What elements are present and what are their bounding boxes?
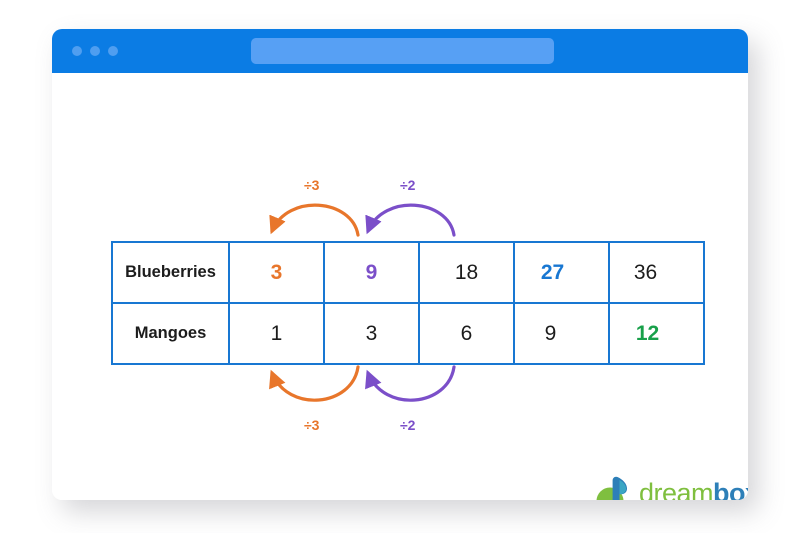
cell-mangoes-1: 1: [229, 303, 324, 364]
top-arrow-divide-2: [368, 205, 454, 235]
cell-value: 27: [541, 261, 564, 284]
bottom-arrow-divide-3: [272, 367, 358, 400]
cell-blueberries-5: 36: [609, 242, 704, 303]
dreambox-logo-mark-icon: [595, 474, 635, 500]
window-maximize-dot[interactable]: [108, 46, 118, 56]
cell-value: 36: [634, 261, 657, 284]
cell-value: 9: [366, 261, 378, 284]
cell-blueberries-4: 27: [514, 242, 609, 303]
cell-mangoes-5: 12: [609, 303, 704, 364]
browser-title-bar: [52, 29, 748, 73]
bottom-arrow-divide-2: [368, 367, 454, 400]
label-top-divide-3: ÷3: [304, 177, 319, 193]
window-controls[interactable]: [72, 46, 118, 56]
logo-word-box: box: [713, 478, 748, 500]
cell-mangoes-3: 6: [419, 303, 514, 364]
address-bar-input[interactable]: [251, 38, 554, 64]
cell-blueberries-2: 9: [324, 242, 419, 303]
cell-value: 1: [271, 322, 283, 345]
window-close-dot[interactable]: [72, 46, 82, 56]
cell-blueberries-3: 18: [419, 242, 514, 303]
table-row-mangoes: Mangoes 1 3 6 9 12: [112, 303, 704, 364]
dreambox-wordmark: dreambox®: [639, 478, 748, 500]
label-top-divide-2: ÷2: [400, 177, 415, 193]
window-minimize-dot[interactable]: [90, 46, 100, 56]
dreambox-logo: dreambox® By Discovery Education: [595, 472, 735, 500]
cell-mangoes-2: 3: [324, 303, 419, 364]
cell-value: 3: [366, 322, 378, 345]
browser-window: ÷3 ÷2 ÷3 ÷2 x3 ÷3 Blueberries 3 9 18: [52, 29, 748, 500]
top-arrow-divide-3: [272, 205, 358, 235]
cell-value: 6: [461, 322, 473, 345]
row-label-blueberries: Blueberries: [112, 242, 229, 303]
label-bottom-divide-3: ÷3: [304, 417, 319, 433]
logo-word-dream: dream: [639, 478, 713, 500]
cell-blueberries-1: 3: [229, 242, 324, 303]
cell-value: 18: [455, 261, 478, 284]
table-row-blueberries: Blueberries 3 9 18 27 36: [112, 242, 704, 303]
ratio-table-diagram: ÷3 ÷2 ÷3 ÷2 x3 ÷3 Blueberries 3 9 18: [52, 73, 748, 500]
browser-content-area: ÷3 ÷2 ÷3 ÷2 x3 ÷3 Blueberries 3 9 18: [52, 73, 748, 500]
cell-value: 12: [636, 322, 659, 345]
cell-mangoes-4: 9: [514, 303, 609, 364]
ratio-table: Blueberries 3 9 18 27 36: [111, 241, 705, 365]
row-label-mangoes: Mangoes: [112, 303, 229, 364]
cell-value: 3: [271, 261, 283, 284]
label-bottom-divide-2: ÷2: [400, 417, 415, 433]
cell-value: 9: [545, 322, 557, 345]
